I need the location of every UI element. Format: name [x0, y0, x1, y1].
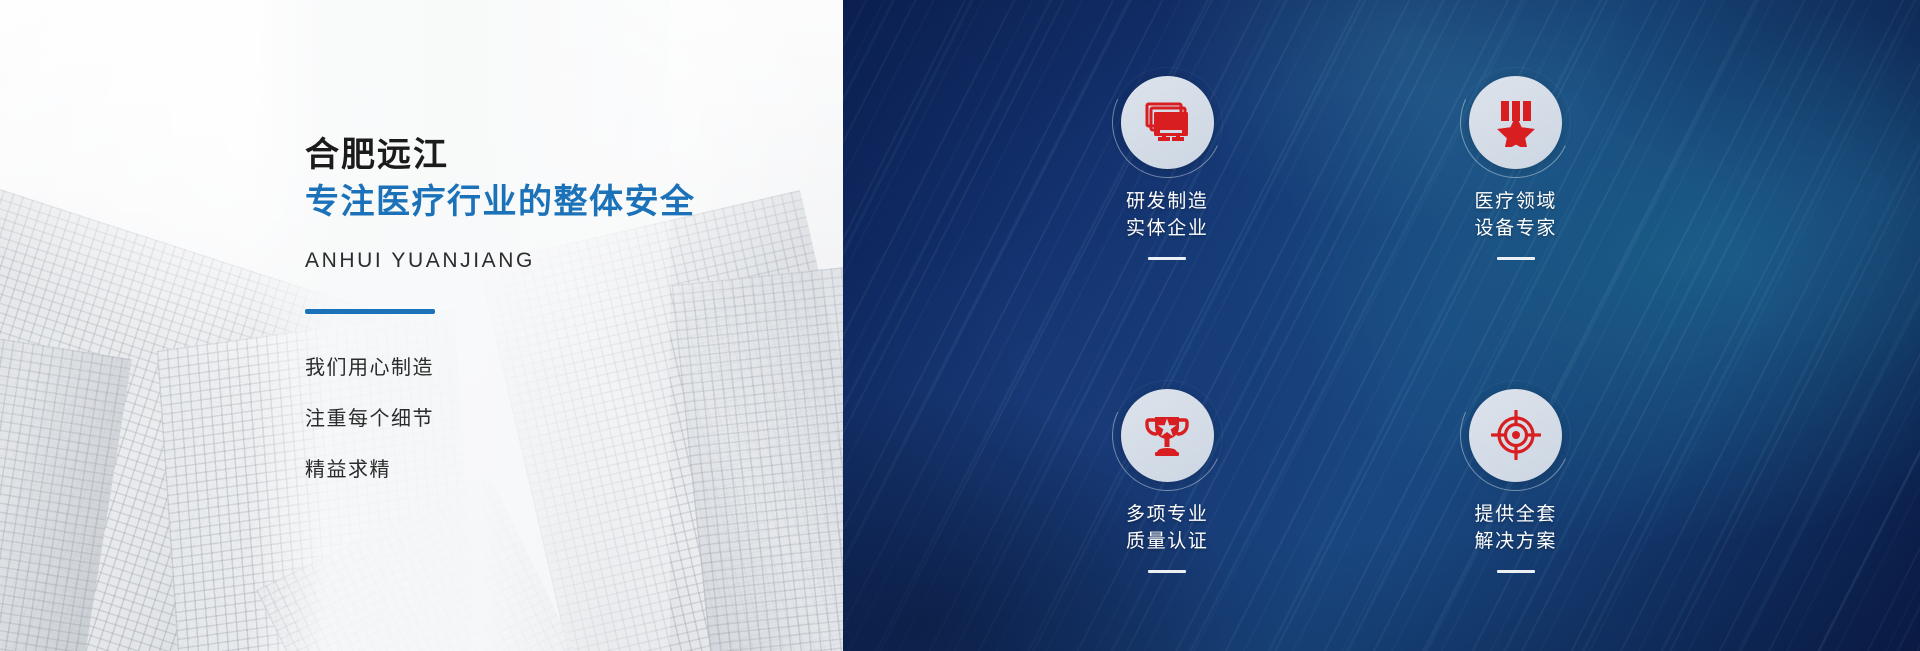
slogan-item: 我们用心制造	[305, 358, 785, 378]
slogan-list: 我们用心制造 注重每个细节 精益求精	[305, 358, 785, 480]
feature-label-line2: 设备专家	[1475, 216, 1557, 243]
slogan-item: 注重每个细节	[305, 409, 785, 429]
intro-content: 合肥远江 专注医疗行业的整体安全 ANHUI YUANJIANG 我们用心制造 …	[305, 134, 785, 511]
left-intro-panel: 合肥远江 专注医疗行业的整体安全 ANHUI YUANJIANG 我们用心制造 …	[0, 0, 843, 651]
feature-underline	[1497, 570, 1535, 573]
feature-label-line1: 多项专业	[1126, 502, 1208, 529]
target-crosshair-icon	[1491, 410, 1541, 460]
feature-label-line2: 实体企业	[1126, 216, 1208, 243]
feature-item-full-solution[interactable]: 提供全套 解决方案	[1342, 325, 1691, 638]
slogan-item: 精益求精	[305, 460, 785, 480]
feature-item-research-manufacturing[interactable]: 研发制造 实体企业	[993, 12, 1342, 325]
trophy-icon	[1143, 411, 1191, 459]
feature-underline	[1148, 570, 1186, 573]
medal-star-icon	[1494, 99, 1538, 147]
feature-underline	[1497, 257, 1535, 260]
feature-grid: 研发制造 实体企业	[843, 0, 1920, 651]
accent-divider	[305, 309, 435, 314]
feature-underline	[1148, 257, 1186, 260]
feature-icon-circle	[1121, 389, 1214, 482]
feature-icon-circle	[1469, 76, 1562, 169]
factory-stack-icon	[1142, 102, 1192, 144]
feature-icon-circle	[1121, 76, 1214, 169]
company-name-title: 合肥远江	[305, 134, 785, 177]
feature-icon-circle	[1469, 389, 1562, 482]
right-features-panel: 研发制造 实体企业	[843, 0, 1920, 651]
feature-label: 医疗领域 设备专家	[1475, 189, 1557, 243]
feature-item-quality-certification[interactable]: 多项专业 质量认证	[993, 325, 1342, 638]
tagline-title: 专注医疗行业的整体安全	[305, 181, 785, 224]
feature-label-line1: 研发制造	[1126, 189, 1208, 216]
feature-label-line2: 解决方案	[1475, 529, 1557, 556]
feature-item-medical-expert[interactable]: 医疗领域 设备专家	[1342, 12, 1691, 325]
company-name-pinyin: ANHUI YUANJIANG	[305, 249, 785, 273]
feature-label-line2: 质量认证	[1126, 529, 1208, 556]
feature-label-line1: 医疗领域	[1475, 189, 1557, 216]
feature-label: 研发制造 实体企业	[1126, 189, 1208, 243]
feature-label: 多项专业 质量认证	[1126, 502, 1208, 556]
hero-banner: 合肥远江 专注医疗行业的整体安全 ANHUI YUANJIANG 我们用心制造 …	[0, 0, 1920, 651]
feature-label-line1: 提供全套	[1475, 502, 1557, 529]
feature-label: 提供全套 解决方案	[1475, 502, 1557, 556]
